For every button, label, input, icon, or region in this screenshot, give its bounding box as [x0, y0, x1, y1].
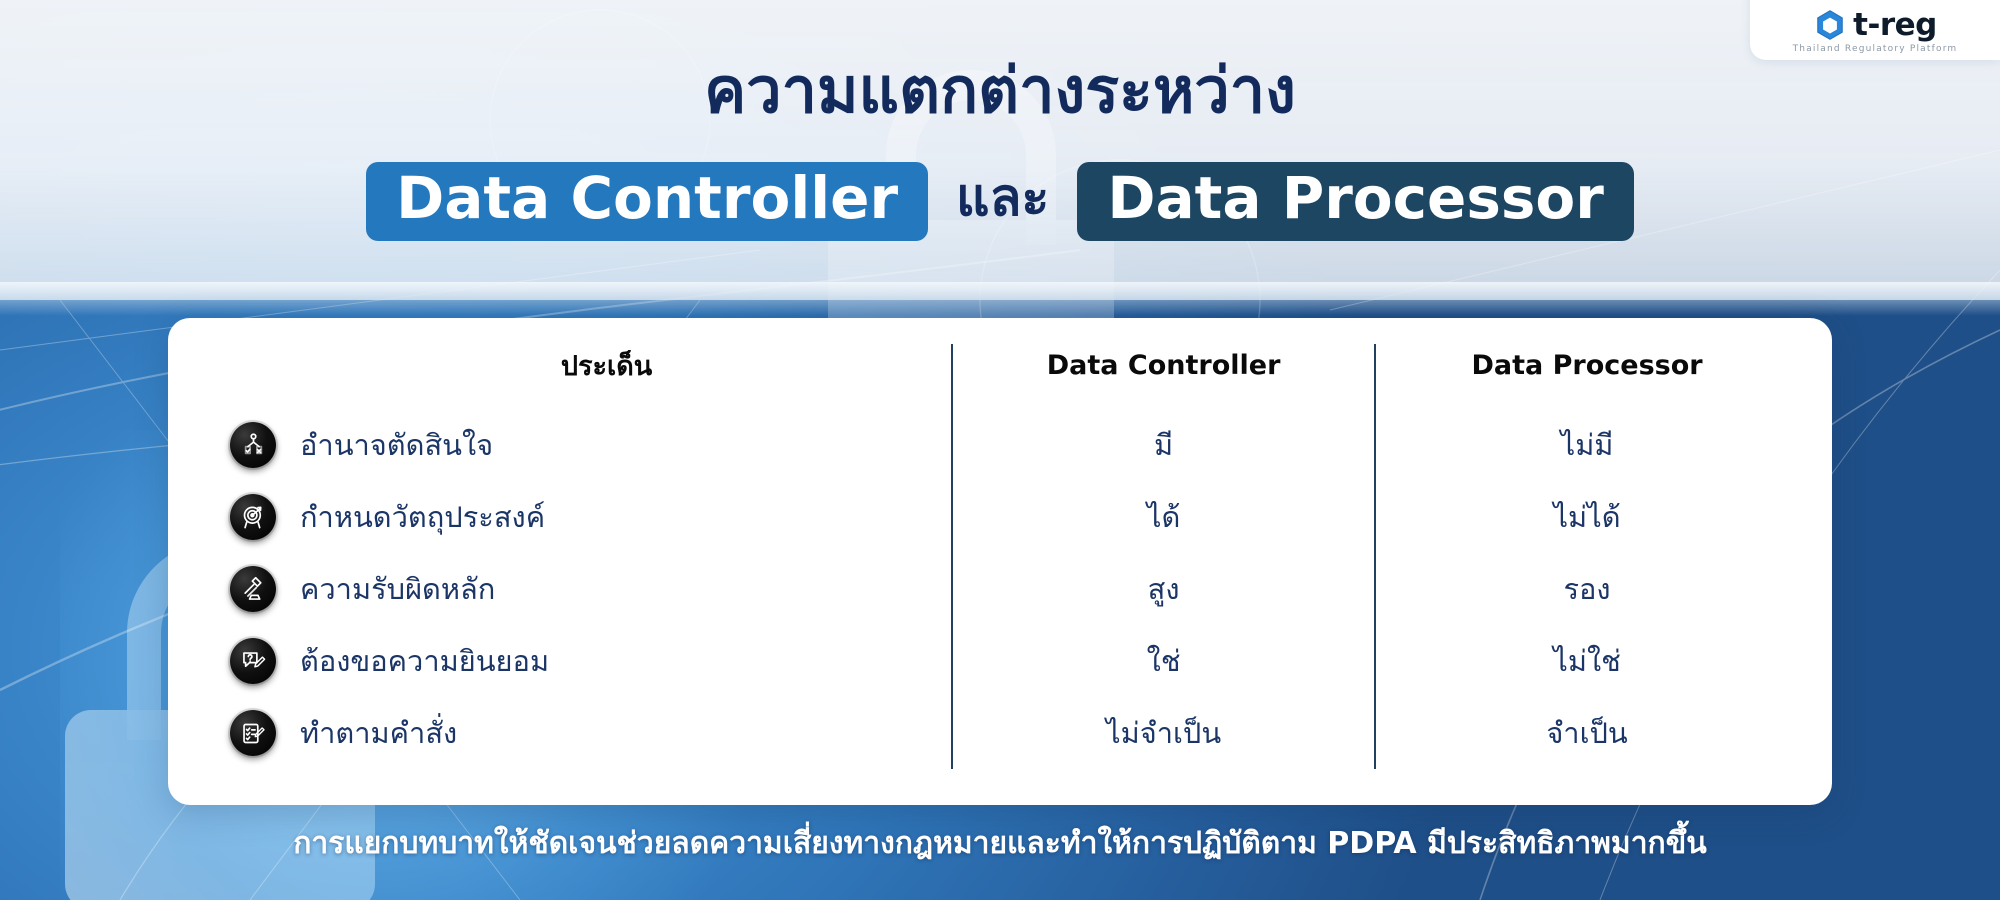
checklist-pencil-icon	[230, 710, 276, 756]
brand-logo[interactable]: t-reg Thailand Regulatory Platform	[1750, 0, 2000, 60]
table-row: ต้องขอความยินยอม ใช่ ไม่ใช่	[202, 625, 1798, 697]
gavel-icon	[230, 566, 276, 612]
row-issue-cell: ความรับผิดหลัก	[202, 553, 952, 625]
brand-logo-stack: t-reg Thailand Regulatory Platform	[1793, 7, 1958, 54]
target-arrow-icon	[230, 494, 276, 540]
column-header-controller: Data Controller	[952, 344, 1375, 409]
column-header-issue: ประเด็น	[202, 344, 952, 409]
processor-value: ไม่มี	[1375, 409, 1798, 481]
header-band-fade	[0, 282, 2000, 316]
issue-label: อำนาจตัดสินใจ	[300, 422, 493, 468]
issue-inner: ความรับผิดหลัก	[230, 566, 951, 612]
processor-value: รอง	[1375, 553, 1798, 625]
comparison-table: ประเด็น Data Controller Data Processor	[202, 344, 1798, 769]
issue-label: กำหนดวัตถุประสงค์	[300, 494, 545, 540]
controller-value: ใช่	[952, 625, 1375, 697]
table-row: ทำตามคำสั่ง ไม่จำเป็น จำเป็น	[202, 697, 1798, 769]
controller-value: ได้	[952, 481, 1375, 553]
badge-data-processor: Data Processor	[1077, 162, 1634, 241]
table-header: ประเด็น Data Controller Data Processor	[202, 344, 1798, 409]
controller-value: มี	[952, 409, 1375, 481]
row-issue-cell: ทำตามคำสั่ง	[202, 697, 952, 769]
processor-value: ไม่ได้	[1375, 481, 1798, 553]
table-header-row: ประเด็น Data Controller Data Processor	[202, 344, 1798, 409]
issue-inner: ทำตามคำสั่ง	[230, 710, 951, 756]
header-band	[0, 0, 2000, 300]
processor-value: ไม่ใช่	[1375, 625, 1798, 697]
decision-tree-icon	[230, 422, 276, 468]
issue-label: ต้องขอความยินยอม	[300, 638, 549, 684]
table-row: กำหนดวัตถุประสงค์ ได้ ไม่ได้	[202, 481, 1798, 553]
row-issue-cell: อำนาจตัดสินใจ	[202, 409, 952, 481]
badge-separator: และ	[954, 155, 1051, 248]
table-body: อำนาจตัดสินใจ มี ไม่มี	[202, 409, 1798, 769]
issue-inner: กำหนดวัตถุประสงค์	[230, 494, 951, 540]
hexagon-ring-icon	[1813, 8, 1847, 42]
issue-label: ทำตามคำสั่ง	[300, 710, 457, 756]
processor-value: จำเป็น	[1375, 697, 1798, 769]
table-row: อำนาจตัดสินใจ มี ไม่มี	[202, 409, 1798, 481]
table-row: ความรับผิดหลัก สูง รอง	[202, 553, 1798, 625]
badge-data-controller: Data Controller	[366, 162, 928, 241]
infographic-canvas: t-reg Thailand Regulatory Platform ความแ…	[0, 0, 2000, 900]
comparison-card: ประเด็น Data Controller Data Processor	[168, 318, 1832, 805]
title-badge-row: Data Controller และ Data Processor	[0, 155, 2000, 248]
issue-label: ความรับผิดหลัก	[300, 566, 495, 612]
issue-inner: ต้องขอความยินยอม	[230, 638, 951, 684]
controller-value: ไม่จำเป็น	[952, 697, 1375, 769]
controller-value: สูง	[952, 553, 1375, 625]
page-title: ความแตกต่างระหว่าง	[0, 58, 2000, 124]
brand-logo-row: t-reg	[1813, 7, 1937, 43]
row-issue-cell: ต้องขอความยินยอม	[202, 625, 952, 697]
column-header-processor: Data Processor	[1375, 344, 1798, 409]
row-issue-cell: กำหนดวัตถุประสงค์	[202, 481, 952, 553]
footer-caption: การแยกบทบาทให้ชัดเจนช่วยลดความเสี่ยงทางก…	[0, 820, 2000, 867]
brand-logo-word: t-reg	[1853, 7, 1937, 43]
consent-request-icon	[230, 638, 276, 684]
brand-logo-tagline: Thailand Regulatory Platform	[1793, 44, 1958, 54]
issue-inner: อำนาจตัดสินใจ	[230, 422, 951, 468]
